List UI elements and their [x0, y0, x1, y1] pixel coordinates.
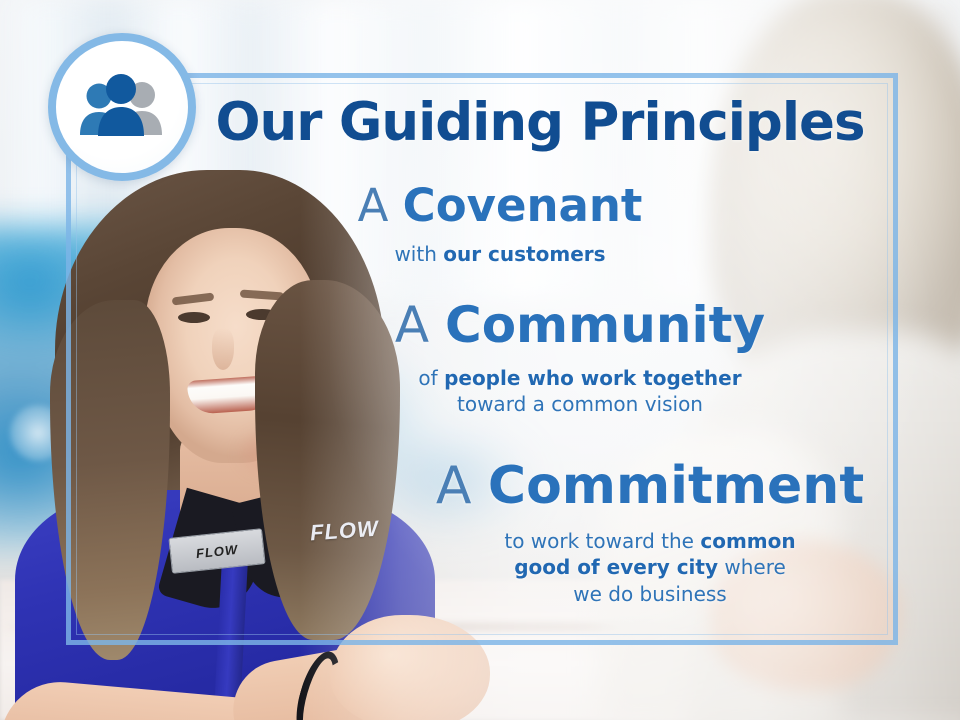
principle-covenant-keyword: Covenant	[403, 179, 643, 232]
principle-commitment-article: A	[436, 456, 472, 516]
principle-community-article: A	[395, 296, 429, 354]
guiding-principles-graphic: FLOW FLOW	[0, 0, 960, 720]
principle-covenant: A Covenant with our customers	[300, 183, 700, 267]
principle-community-keyword: Community	[445, 296, 765, 354]
principle-community-lead: A Community	[355, 300, 805, 350]
principle-community: A Community of people who work togethert…	[355, 300, 805, 418]
principle-community-sub: of people who work togethertoward a comm…	[355, 365, 805, 418]
principle-covenant-article: A	[358, 179, 389, 232]
principle-covenant-lead: A Covenant	[300, 183, 700, 228]
principle-covenant-sub: with our customers	[300, 241, 700, 267]
principles-list: A Covenant with our customers A Communit…	[0, 0, 960, 720]
principle-commitment-lead: A Commitment	[415, 460, 885, 512]
principle-commitment-sub: to work toward the commongood of every c…	[415, 528, 885, 607]
principle-commitment-keyword: Commitment	[488, 456, 864, 516]
principle-commitment: A Commitment to work toward the commongo…	[415, 460, 885, 607]
